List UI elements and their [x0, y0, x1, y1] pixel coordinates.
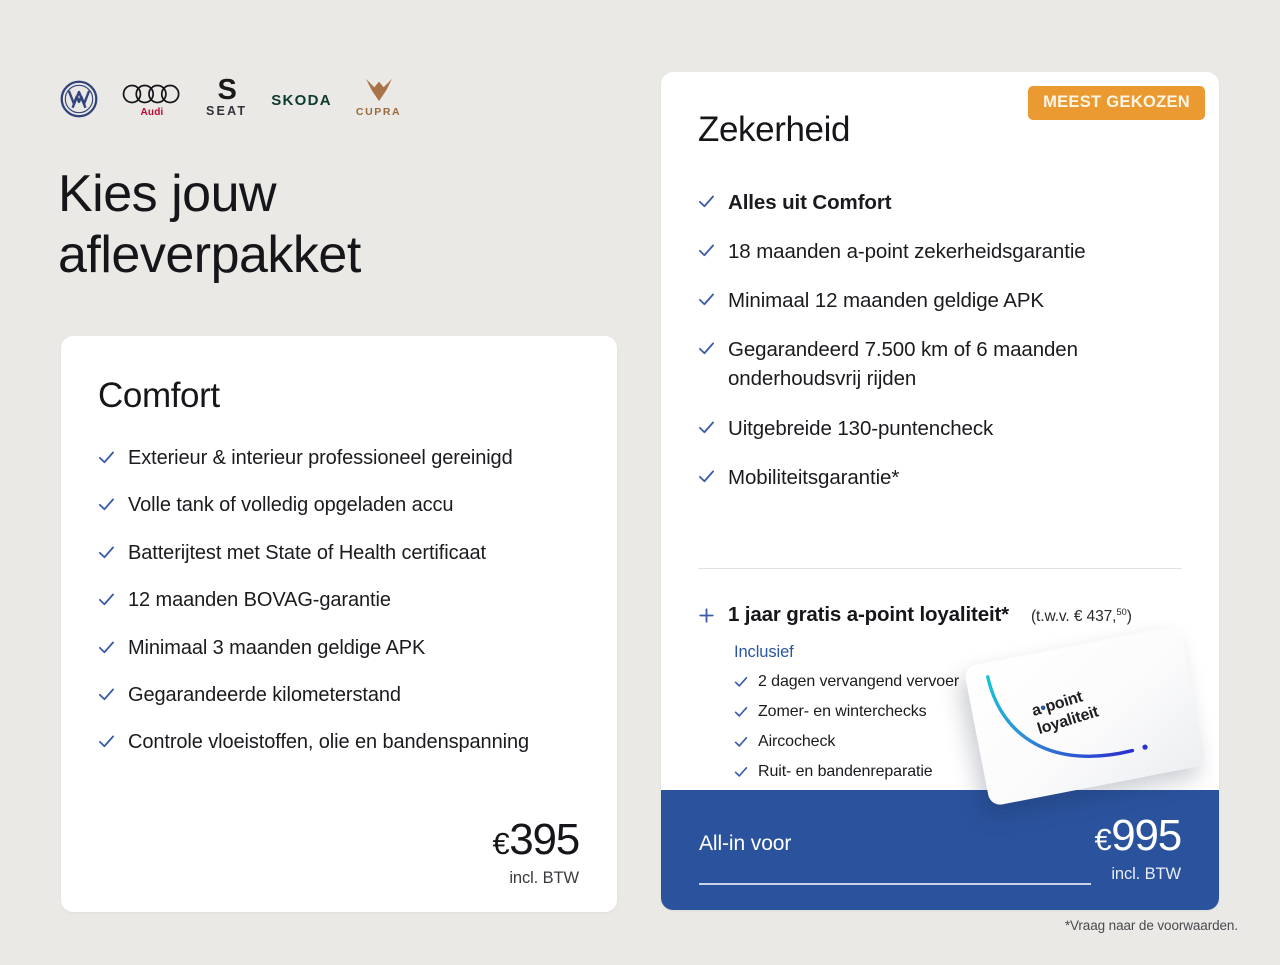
cupra-wordmark: CUPRA	[356, 106, 401, 118]
list-item-label: Batterijtest met State of Health certifi…	[128, 539, 486, 567]
comfort-feature-list: Exterieur & interieur professioneel gere…	[98, 444, 568, 776]
zekerheid-price: €995	[1094, 814, 1181, 858]
list-item: Minimaal 3 maanden geldige APK	[98, 634, 568, 662]
brand-logo-strip: Audi S SEAT SKODA CUPRA	[60, 66, 401, 118]
list-item-label: 18 maanden a-point zekerheidsgarantie	[728, 237, 1086, 266]
list-item-label: Alles uit Comfort	[728, 188, 891, 217]
page-title: Kies jouw afleverpakket	[58, 164, 528, 287]
footnote-terms: *Vraag naar de voorwaarden.	[1065, 918, 1238, 933]
currency-symbol: €	[492, 826, 509, 861]
brand-audi: Audi	[122, 83, 182, 118]
brand-volkswagen	[60, 80, 98, 118]
zekerheid-price-footer: All-in voor €995 incl. BTW	[661, 790, 1219, 910]
list-item-label: 12 maanden BOVAG-garantie	[128, 586, 391, 614]
list-item-label: Volle tank of volledig opgeladen accu	[128, 491, 453, 519]
zekerheid-title: Zekerheid	[698, 110, 850, 150]
list-item: Alles uit Comfort	[698, 188, 1188, 217]
check-icon	[98, 686, 115, 703]
check-icon	[98, 733, 115, 750]
list-item-label: Gegarandeerde kilometerstand	[128, 681, 401, 709]
section-divider	[698, 568, 1182, 569]
comfort-price: €395	[492, 818, 579, 862]
check-icon	[698, 291, 715, 308]
comfort-price-note: incl. BTW	[492, 869, 579, 888]
seat-s-icon: S	[217, 78, 235, 103]
package-card-comfort[interactable]: Comfort Exterieur & interieur profession…	[61, 336, 617, 912]
brand-seat: S SEAT	[206, 78, 247, 118]
check-icon	[734, 735, 748, 749]
list-item: Minimaal 12 maanden geldige APK	[698, 286, 1188, 315]
list-item-label: Gegarandeerd 7.500 km of 6 maanden onder…	[728, 335, 1188, 393]
check-icon	[98, 496, 115, 513]
check-icon	[734, 675, 748, 689]
currency-symbol: €	[1094, 822, 1111, 857]
comfort-price-block: €395 incl. BTW	[492, 818, 579, 888]
list-item-label: Controle vloeistoffen, olie en bandenspa…	[128, 728, 529, 756]
list-item: Controle vloeistoffen, olie en bandenspa…	[98, 728, 568, 756]
loyalty-value-prefix: (t.w.v. € 437,	[1031, 608, 1116, 625]
loyalty-value: (t.w.v. € 437,50)	[1031, 607, 1132, 626]
brand-cupra: CUPRA	[356, 77, 401, 118]
list-item: 12 maanden BOVAG-garantie	[98, 586, 568, 614]
package-card-zekerheid[interactable]: MEEST GEKOZEN Zekerheid Alles uit Comfor…	[661, 72, 1219, 910]
check-icon	[734, 705, 748, 719]
allin-label: All-in voor	[699, 832, 791, 856]
check-icon	[698, 419, 715, 436]
status-badge-most-chosen: MEEST GEKOZEN	[1028, 86, 1205, 120]
list-item: Mobiliteitsgarantie*	[698, 463, 1188, 492]
loyalty-heading-row: 1 jaar gratis a-point loyaliteit* (t.w.v…	[698, 603, 1198, 627]
list-item: Gegarandeerd 7.500 km of 6 maanden onder…	[698, 335, 1188, 393]
zekerheid-price-block: €995 incl. BTW	[1094, 814, 1181, 884]
allin-underline	[699, 883, 1091, 885]
check-icon	[734, 765, 748, 779]
loyalty-title: 1 jaar gratis a-point loyaliteit*	[728, 603, 1009, 627]
check-icon	[698, 340, 715, 357]
audi-wordmark: Audi	[140, 107, 163, 118]
price-value: 395	[509, 815, 579, 864]
check-icon	[98, 449, 115, 466]
check-icon	[698, 468, 715, 485]
list-item-label: Minimaal 3 maanden geldige APK	[128, 634, 425, 662]
list-item: Batterijtest met State of Health certifi…	[98, 539, 568, 567]
list-item-label: 2 dagen vervangend vervoer	[758, 671, 959, 693]
list-item: Volle tank of volledig opgeladen accu	[98, 491, 568, 519]
brand-skoda: SKODA	[271, 92, 332, 118]
list-item-label: Zomer- en winterchecks	[758, 701, 927, 723]
seat-wordmark: SEAT	[206, 104, 247, 118]
check-icon	[698, 193, 715, 210]
price-value: 995	[1111, 811, 1181, 860]
plus-icon	[698, 607, 715, 624]
check-icon	[98, 544, 115, 561]
list-item: Exterieur & interieur professioneel gere…	[98, 444, 568, 472]
list-item: Gegarandeerde kilometerstand	[98, 681, 568, 709]
volkswagen-logo-icon	[60, 80, 98, 118]
list-item: Uitgebreide 130-puntencheck	[698, 414, 1188, 443]
skoda-wordmark: SKODA	[271, 92, 332, 109]
list-item-label: Exterieur & interieur professioneel gere…	[128, 444, 513, 472]
check-icon	[698, 242, 715, 259]
list-item-label: Minimaal 12 maanden geldige APK	[728, 286, 1044, 315]
comfort-title: Comfort	[98, 376, 220, 416]
loyalty-value-suffix: )	[1127, 608, 1132, 625]
cupra-logo-icon	[364, 77, 394, 103]
zekerheid-feature-list: Alles uit Comfort 18 maanden a-point zek…	[698, 188, 1188, 512]
list-item-label: Ruit- en bandenreparatie	[758, 761, 933, 783]
list-item-label: Uitgebreide 130-puntencheck	[728, 414, 993, 443]
zekerheid-price-note: incl. BTW	[1094, 865, 1181, 884]
audi-rings-icon	[122, 83, 182, 105]
list-item-label: Mobiliteitsgarantie*	[728, 463, 899, 492]
check-icon	[98, 639, 115, 656]
loyalty-value-cents: 50	[1116, 607, 1126, 618]
list-item: 18 maanden a-point zekerheidsgarantie	[698, 237, 1188, 266]
list-item-label: Aircocheck	[758, 731, 835, 753]
check-icon	[98, 591, 115, 608]
